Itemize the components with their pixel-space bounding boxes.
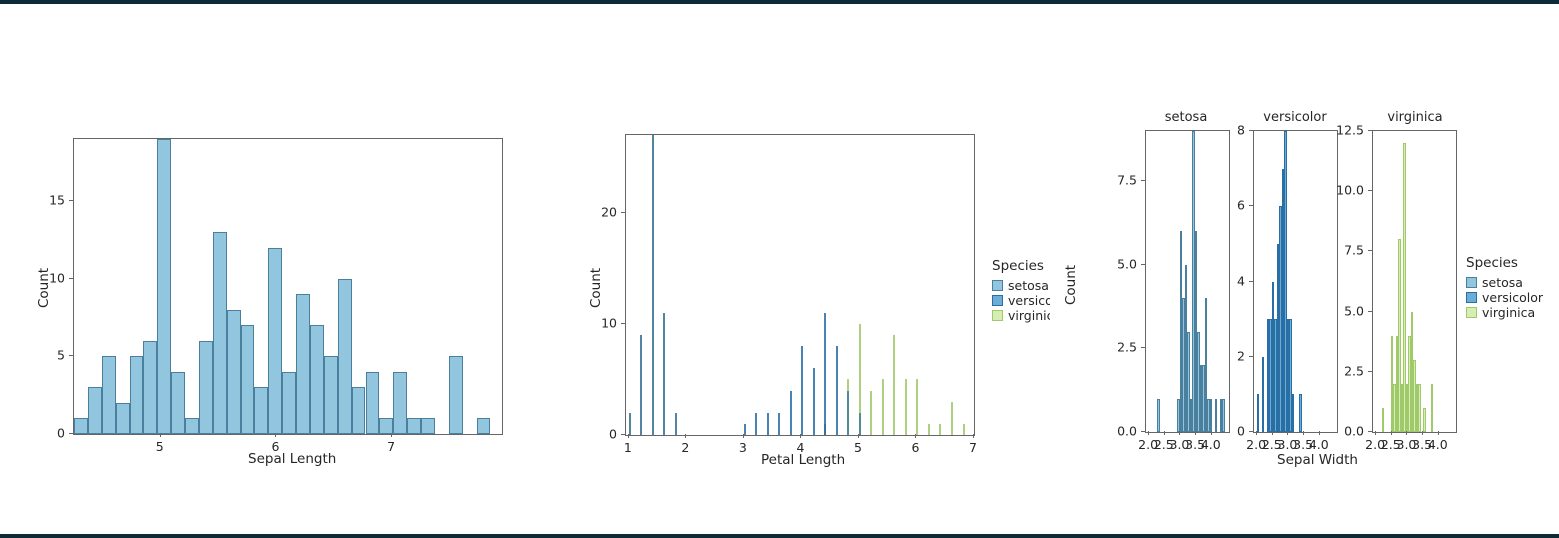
y-tick-mark bbox=[1141, 264, 1145, 265]
plot-area-versicolor bbox=[1253, 130, 1338, 433]
plot-area-setosa bbox=[1145, 130, 1230, 433]
x-tick-label: 1 bbox=[624, 440, 632, 455]
histogram-bar bbox=[1157, 399, 1160, 432]
y-tick-mark bbox=[1249, 130, 1253, 131]
y-tick-label: 4 bbox=[1237, 273, 1245, 288]
x-tick-mark bbox=[973, 434, 974, 438]
y-tick-mark bbox=[1249, 356, 1253, 357]
axis-title-x-sepal-width-facets: Sepal Width bbox=[1277, 452, 1358, 468]
histogram-bar bbox=[1222, 399, 1225, 432]
histogram-bar bbox=[767, 413, 769, 435]
x-tick-mark bbox=[1391, 431, 1392, 435]
histogram-bar bbox=[1215, 399, 1218, 432]
histogram-bar bbox=[1257, 394, 1260, 432]
y-tick-mark bbox=[1141, 431, 1145, 432]
legend-item-versicolor-2[interactable]: versicolor bbox=[1466, 290, 1543, 304]
histogram-bar bbox=[1299, 394, 1302, 432]
y-tick-mark bbox=[1249, 431, 1253, 432]
legend-label-virginica-2: virginica bbox=[1482, 305, 1535, 320]
histogram-bar bbox=[407, 418, 421, 434]
histogram-bar bbox=[859, 413, 861, 435]
histogram-bar bbox=[893, 335, 895, 435]
histogram-bar bbox=[171, 372, 185, 434]
histogram-bar bbox=[629, 413, 631, 435]
histogram-bar bbox=[905, 379, 907, 435]
histogram-bar bbox=[338, 279, 352, 434]
histogram-bar bbox=[1418, 384, 1421, 432]
y-tick-label: 5.0 bbox=[1344, 303, 1364, 318]
x-tick-mark bbox=[1287, 431, 1288, 435]
y-tick-label: 2.5 bbox=[1117, 340, 1137, 355]
x-tick-mark bbox=[685, 434, 686, 438]
plot-area-virginica bbox=[1372, 130, 1457, 433]
x-tick-mark bbox=[743, 434, 744, 438]
x-tick-mark bbox=[1211, 431, 1212, 435]
histogram-bar bbox=[836, 346, 838, 435]
x-tick-mark bbox=[275, 433, 276, 437]
x-tick-mark bbox=[1375, 431, 1376, 435]
histogram-bar bbox=[939, 424, 941, 435]
y-tick-label: 0 bbox=[609, 427, 617, 442]
legend-item-setosa-2[interactable]: setosa bbox=[1466, 275, 1543, 289]
panel-title-virginica: virginica bbox=[1370, 110, 1460, 125]
chart-petal-length-histogram: 123456701020 Petal Length Count Species … bbox=[560, 0, 1060, 500]
x-tick-mark bbox=[1164, 431, 1165, 435]
histogram-bar bbox=[352, 387, 366, 434]
y-tick-label: 6 bbox=[1237, 198, 1245, 213]
y-tick-mark bbox=[1141, 347, 1145, 348]
histogram-bar bbox=[199, 341, 213, 434]
legend-swatch-virginica-2 bbox=[1466, 307, 1477, 318]
x-tick-label: 4.0 bbox=[1309, 437, 1329, 452]
legend-swatch-virginica bbox=[992, 310, 1003, 321]
x-tick-label: 5 bbox=[854, 440, 862, 455]
legend-title-species: Species bbox=[992, 258, 1050, 274]
y-tick-mark bbox=[1368, 311, 1372, 312]
histogram-bar bbox=[324, 356, 338, 434]
panel-title-setosa: setosa bbox=[1146, 110, 1226, 125]
x-tick-mark bbox=[858, 434, 859, 438]
x-tick-mark bbox=[1422, 431, 1423, 435]
axis-title-x-sepal-length: Sepal Length bbox=[248, 451, 336, 467]
legend-swatch-setosa bbox=[992, 280, 1003, 291]
figure-canvas: 567051015 Sepal Length Count 12345670102… bbox=[0, 0, 1559, 538]
axis-title-x-petal-length: Petal Length bbox=[761, 452, 845, 468]
axis-title-y-sepal-length: Count bbox=[36, 268, 52, 308]
histogram-bar bbox=[185, 418, 199, 434]
plot-area-petal-length bbox=[625, 134, 975, 436]
y-tick-label: 15 bbox=[49, 193, 65, 208]
histogram-bar bbox=[1382, 408, 1385, 432]
y-tick-mark bbox=[1368, 250, 1372, 251]
y-tick-mark bbox=[1249, 281, 1253, 282]
histogram-bar bbox=[847, 391, 849, 435]
histogram-bar bbox=[790, 391, 792, 435]
legend-swatch-versicolor-2 bbox=[1466, 292, 1477, 303]
y-tick-label: 10.0 bbox=[1336, 183, 1364, 198]
x-tick-label: 5 bbox=[156, 439, 164, 454]
histogram-bar bbox=[130, 356, 144, 434]
x-tick-label: 3 bbox=[739, 440, 747, 455]
y-tick-label: 2.5 bbox=[1344, 363, 1364, 378]
histogram-bar bbox=[744, 424, 746, 435]
chart-sepal-length-histogram: 567051015 Sepal Length Count bbox=[0, 0, 520, 500]
y-tick-mark bbox=[621, 434, 625, 435]
x-tick-mark bbox=[160, 433, 161, 437]
x-tick-mark bbox=[1195, 431, 1196, 435]
x-tick-label: 4.0 bbox=[1201, 437, 1221, 452]
histogram-bar bbox=[640, 335, 642, 435]
histogram-bar bbox=[870, 391, 872, 435]
x-tick-mark bbox=[800, 434, 801, 438]
legend-item-versicolor[interactable]: versicol bbox=[992, 293, 1050, 307]
legend-title-species-2: Species bbox=[1466, 255, 1543, 271]
x-tick-mark bbox=[1179, 431, 1180, 435]
histogram-bar bbox=[675, 413, 677, 435]
histogram-bar bbox=[296, 294, 310, 434]
legend-label-versicolor: versicol bbox=[1008, 293, 1050, 308]
bars-versicolor bbox=[1254, 131, 1337, 432]
histogram-bar bbox=[477, 418, 491, 434]
y-tick-label: 8 bbox=[1237, 123, 1245, 138]
x-tick-label: 2 bbox=[681, 440, 689, 455]
y-tick-label: 0 bbox=[1237, 424, 1245, 439]
histogram-bar bbox=[227, 310, 241, 434]
histogram-bar bbox=[282, 372, 296, 434]
legend-species-petal-length: Species setosa versicol virginica bbox=[992, 258, 1050, 323]
histogram-bar bbox=[268, 248, 282, 434]
histogram-bar bbox=[813, 368, 815, 435]
histogram-bar bbox=[157, 139, 171, 434]
histogram-bar bbox=[801, 346, 803, 435]
chart-sepal-width-facets: Count Sepal Width setosa 2.02.53.03.54.0… bbox=[1050, 0, 1559, 500]
y-tick-mark bbox=[1368, 190, 1372, 191]
y-tick-label: 12.5 bbox=[1336, 123, 1364, 138]
histogram-bar bbox=[366, 372, 380, 434]
x-tick-mark bbox=[1256, 431, 1257, 435]
y-tick-label: 5.0 bbox=[1117, 256, 1137, 271]
histogram-bar bbox=[393, 372, 407, 434]
y-tick-mark bbox=[69, 433, 73, 434]
legend-label-versicolor-2: versicolor bbox=[1482, 290, 1543, 305]
histogram-bar bbox=[916, 379, 918, 435]
bars-setosa bbox=[1146, 131, 1229, 432]
y-tick-mark bbox=[69, 355, 73, 356]
y-tick-mark bbox=[1141, 180, 1145, 181]
histogram-bar bbox=[74, 418, 88, 434]
y-tick-label: 5 bbox=[57, 348, 65, 363]
histogram-bar bbox=[778, 413, 780, 435]
y-tick-mark bbox=[1368, 130, 1372, 131]
histogram-bar bbox=[310, 325, 324, 434]
y-tick-label: 2 bbox=[1237, 348, 1245, 363]
legend-swatch-setosa-2 bbox=[1466, 277, 1477, 288]
y-tick-label: 0 bbox=[57, 426, 65, 441]
bars-virginica bbox=[1373, 131, 1456, 432]
histogram-bar bbox=[421, 418, 435, 434]
y-tick-mark bbox=[1249, 205, 1253, 206]
x-tick-mark bbox=[1272, 431, 1273, 435]
histogram-bar bbox=[663, 313, 665, 435]
x-tick-label: 7 bbox=[387, 439, 395, 454]
histogram-bar bbox=[143, 341, 157, 434]
plot-area-sepal-length bbox=[73, 138, 503, 435]
histogram-bar bbox=[116, 403, 130, 434]
panel-title-versicolor: versicolor bbox=[1250, 110, 1340, 125]
histogram-bar bbox=[652, 135, 654, 435]
y-tick-mark bbox=[621, 323, 625, 324]
x-tick-mark bbox=[628, 434, 629, 438]
legend-item-setosa[interactable]: setosa bbox=[992, 278, 1050, 292]
legend-species-sepal-width: Species setosa versicolor virginica bbox=[1466, 255, 1543, 320]
histogram-bar bbox=[963, 424, 965, 435]
y-tick-mark bbox=[69, 200, 73, 201]
x-tick-mark bbox=[915, 434, 916, 438]
histogram-bar bbox=[1292, 394, 1295, 432]
y-tick-label: 20 bbox=[601, 204, 617, 219]
histogram-bar bbox=[882, 379, 884, 435]
legend-item-virginica[interactable]: virginica bbox=[992, 308, 1050, 322]
axis-title-y-petal-length: Count bbox=[588, 268, 604, 308]
histogram-bar bbox=[1423, 408, 1426, 432]
bars-sepal-length bbox=[74, 139, 502, 434]
y-tick-label: 0.0 bbox=[1344, 424, 1364, 439]
histogram-bar bbox=[88, 387, 102, 434]
bars-petal-length bbox=[626, 135, 974, 435]
x-tick-mark bbox=[1406, 431, 1407, 435]
histogram-bar bbox=[824, 424, 826, 435]
x-tick-label: 4.0 bbox=[1428, 437, 1448, 452]
histogram-bar bbox=[951, 402, 953, 435]
x-tick-mark bbox=[1319, 431, 1320, 435]
y-tick-label: 10 bbox=[601, 315, 617, 330]
x-tick-mark bbox=[1148, 431, 1149, 435]
histogram-bar bbox=[102, 356, 116, 434]
y-tick-mark bbox=[621, 212, 625, 213]
legend-label-setosa: setosa bbox=[1008, 278, 1049, 293]
histogram-bar bbox=[1431, 384, 1434, 432]
x-tick-mark bbox=[391, 433, 392, 437]
histogram-bar bbox=[241, 325, 255, 434]
histogram-bar bbox=[824, 313, 826, 435]
x-tick-label: 6 bbox=[911, 440, 919, 455]
histogram-bar bbox=[755, 413, 757, 435]
x-tick-mark bbox=[1438, 431, 1439, 435]
legend-swatch-versicolor bbox=[992, 295, 1003, 306]
axis-title-y-sepal-width-facets: Count bbox=[1063, 265, 1079, 305]
legend-label-setosa-2: setosa bbox=[1482, 275, 1523, 290]
histogram-bar bbox=[449, 356, 463, 434]
histogram-bar bbox=[213, 232, 227, 434]
histogram-bar bbox=[254, 387, 268, 434]
y-tick-mark bbox=[1368, 371, 1372, 372]
histogram-bar bbox=[1210, 399, 1213, 432]
legend-label-virginica: virginica bbox=[1008, 308, 1050, 323]
y-tick-label: 0.0 bbox=[1117, 424, 1137, 439]
y-tick-mark bbox=[1368, 431, 1372, 432]
histogram-bar bbox=[928, 424, 930, 435]
y-tick-label: 7.5 bbox=[1344, 243, 1364, 258]
histogram-bar bbox=[379, 418, 393, 434]
y-tick-mark bbox=[69, 278, 73, 279]
legend-item-virginica-2[interactable]: virginica bbox=[1466, 305, 1543, 319]
histogram-bar bbox=[1262, 357, 1265, 432]
x-tick-label: 7 bbox=[969, 440, 977, 455]
y-tick-label: 7.5 bbox=[1117, 173, 1137, 188]
x-tick-mark bbox=[1303, 431, 1304, 435]
